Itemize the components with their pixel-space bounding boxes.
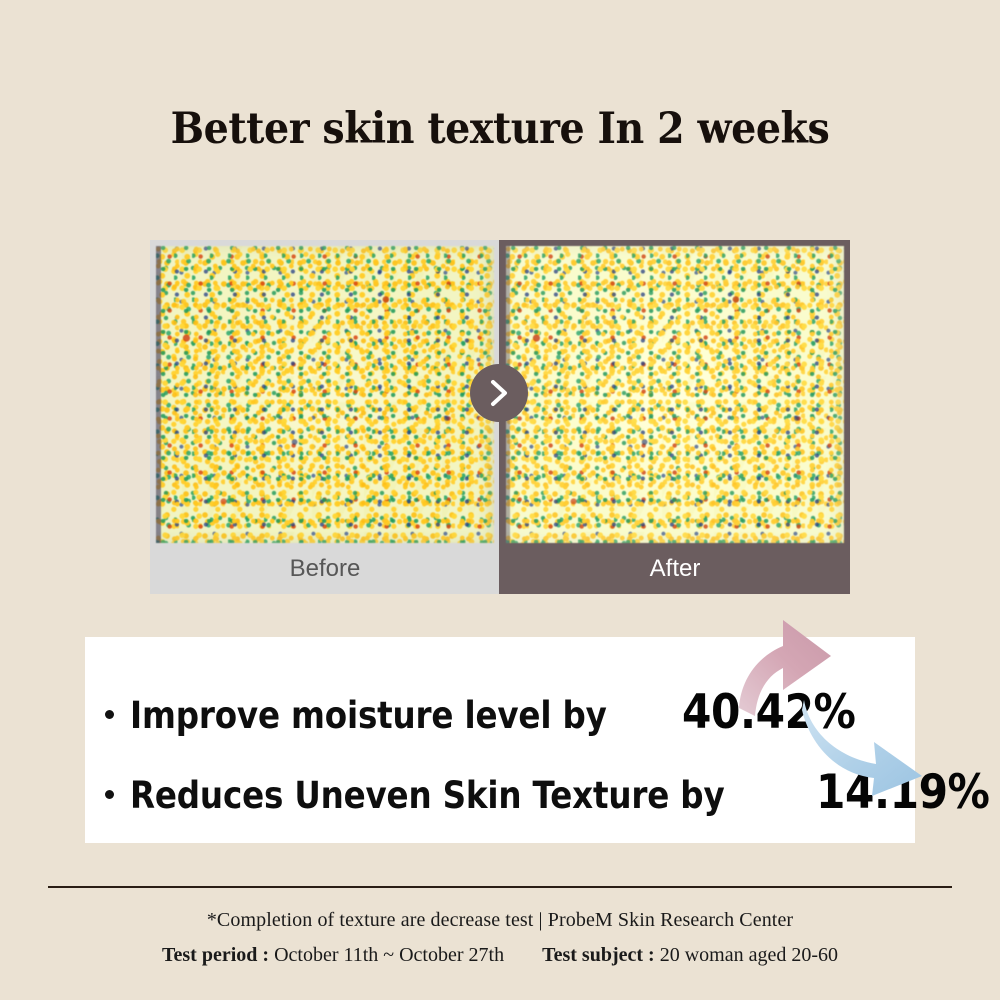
- footer-note: *Completion of texture are decrease test…: [0, 905, 1000, 935]
- bullet-dot-icon: [105, 790, 114, 799]
- after-skin-texture-image: [506, 246, 844, 543]
- test-subject-value: 20 woman aged 20-60: [660, 944, 838, 966]
- test-period-value: October 11th ~ October 27th: [274, 944, 504, 966]
- bullet-dot-icon: [105, 710, 114, 719]
- promo-page: Better skin texture In 2 weeks Before Af…: [0, 0, 1000, 1000]
- arrow-down-curved-icon: [800, 690, 930, 800]
- before-skin-texture-image: [156, 246, 494, 543]
- result-text-moisture: Improve moisture level by: [130, 694, 607, 737]
- test-subject-label: Test subject :: [542, 944, 655, 966]
- page-title: Better skin texture In 2 weeks: [40, 104, 960, 154]
- before-panel: Before: [150, 240, 500, 594]
- chevron-right-icon[interactable]: [470, 364, 528, 422]
- footer: *Completion of texture are decrease test…: [0, 905, 1000, 970]
- after-label: After: [500, 543, 850, 594]
- test-period-label: Test period :: [162, 944, 269, 966]
- after-panel: After: [500, 240, 850, 594]
- footer-details: Test period : October 11th ~ October 27t…: [0, 940, 1000, 970]
- footer-divider: [48, 886, 952, 888]
- before-label: Before: [150, 543, 500, 594]
- result-text-texture: Reduces Uneven Skin Texture by: [130, 774, 724, 817]
